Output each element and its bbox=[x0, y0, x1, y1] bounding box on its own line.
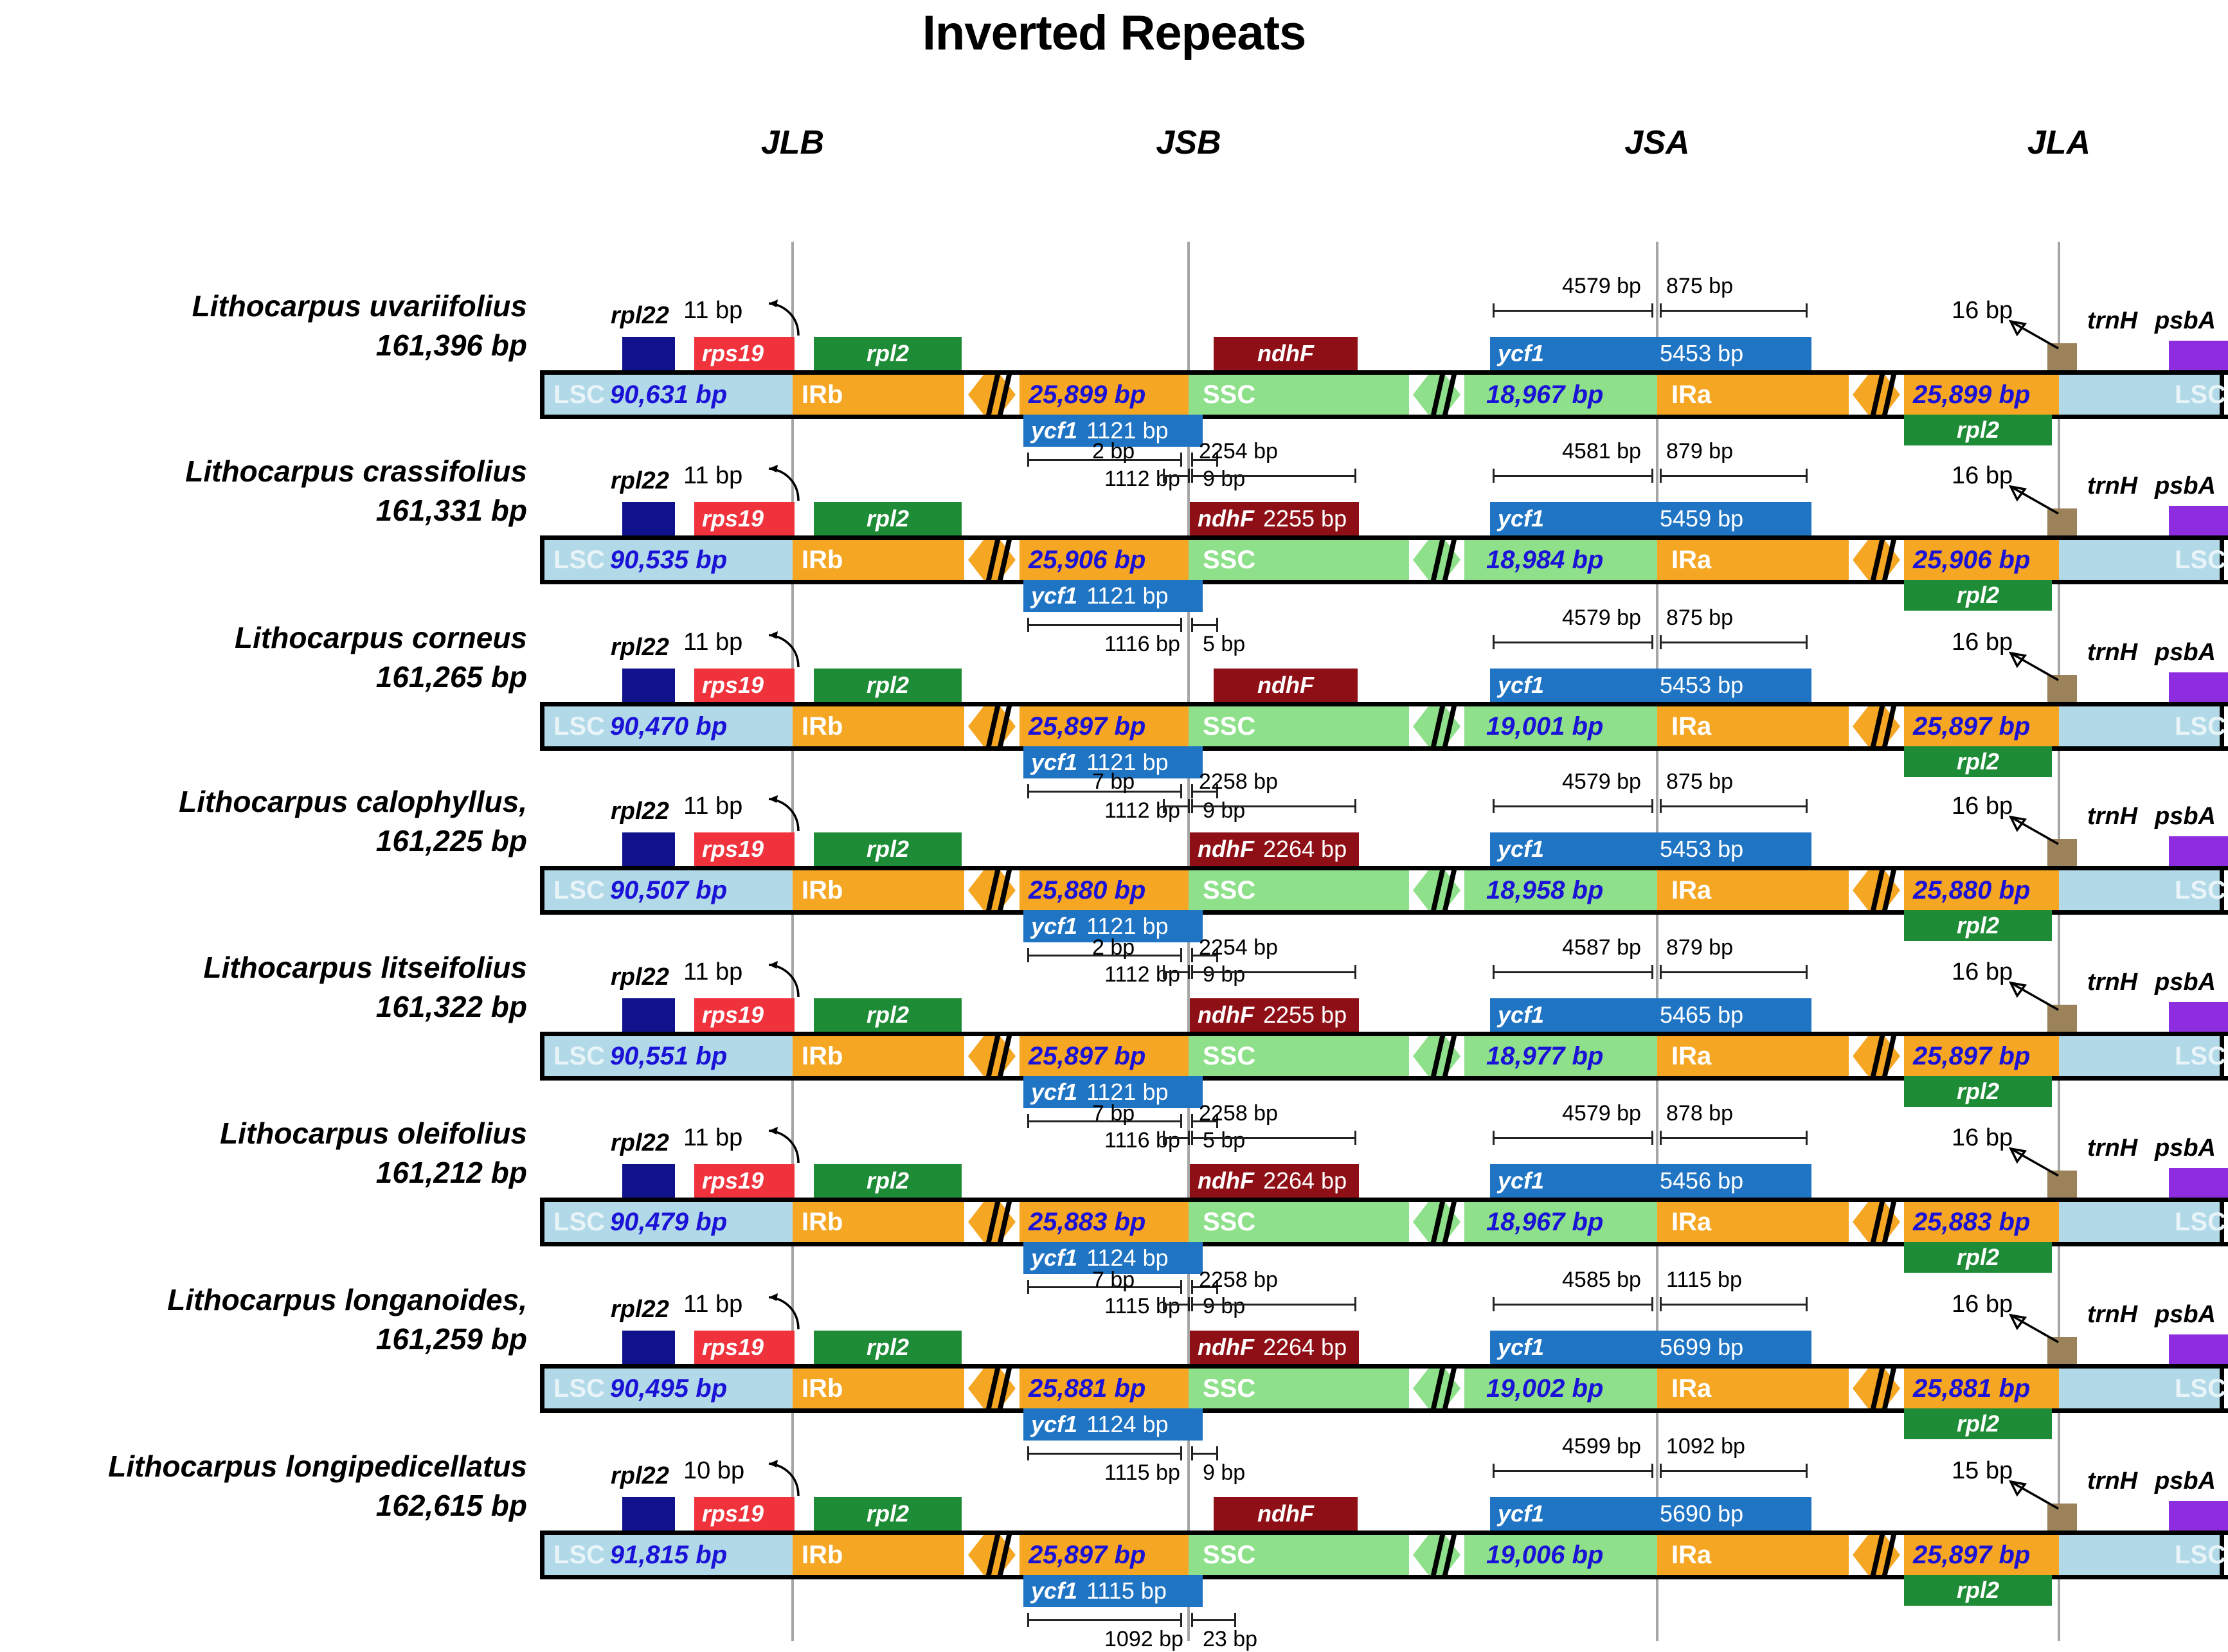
ycf1-jsa-right-bp-label: 875 bp bbox=[1666, 606, 1733, 631]
segment-lsc-left: LSC90,631 bp bbox=[540, 375, 793, 415]
junction-label-jla: JLA bbox=[2027, 123, 2090, 162]
jlb-gap-label: 11 bp bbox=[683, 297, 742, 325]
segment-ira-length: 25,880 bp bbox=[1913, 876, 2030, 905]
segment-lsc-left-name: LSC bbox=[553, 876, 605, 905]
gene-ycf1-jsa-label: ycf1 bbox=[1490, 672, 1544, 699]
segment-ssc-name: SSC bbox=[1203, 876, 1255, 905]
gene-rps19: rps19 bbox=[694, 669, 795, 702]
species-genome-size: 161,265 bp bbox=[39, 658, 527, 697]
ndhf-left-bp-label: 2 bp bbox=[1092, 439, 1135, 464]
gene-rpl2-label: rpl2 bbox=[867, 1001, 909, 1028]
segment-ssc-name: SSC bbox=[1203, 381, 1255, 409]
segment-lsc-left-name: LSC bbox=[553, 381, 605, 409]
gene-rpl2-label: rpl2 bbox=[867, 1500, 909, 1527]
segment-irb-name: IRb bbox=[802, 1042, 843, 1071]
gene-rpl2-ira: rpl2 bbox=[1904, 1076, 2052, 1107]
segment-ssc-name: SSC bbox=[1203, 1208, 1255, 1237]
segment-ira-name: IRa bbox=[1671, 1042, 1711, 1071]
gene-ycf1-jsa-label: ycf1 bbox=[1490, 505, 1544, 532]
jlb-gap-label: 11 bp bbox=[683, 958, 742, 986]
gene-rps19: rps19 bbox=[694, 1497, 795, 1531]
break-marker bbox=[964, 706, 1020, 746]
ndhf-right-bp-label: 2254 bp bbox=[1199, 935, 1278, 960]
species-label-block: Lithocarpus corneus161,265 bp bbox=[39, 618, 527, 696]
gene-ycf1-jsb: ycf11124 bp bbox=[1023, 1408, 1203, 1441]
species-name: Lithocarpus litseifolius bbox=[39, 948, 527, 987]
ycf1-jsa-left-measure bbox=[1493, 303, 1653, 318]
gene-trnh-label: trnH bbox=[2087, 1468, 2137, 1495]
segment-ssc-length: 18,977 bp bbox=[1486, 1042, 1603, 1071]
species-label-block: Lithocarpus longipedicellatus162,615 bp bbox=[39, 1447, 527, 1525]
segment-lsc-right-name: LSC bbox=[2175, 546, 2226, 575]
jlb-gap-arrow bbox=[759, 1460, 804, 1500]
ycf1-jsb-right-bp-label: 9 bp bbox=[1203, 1460, 1245, 1486]
gene-rpl2-label: rpl2 bbox=[867, 1334, 909, 1361]
gene-ndhf-label: ndhF bbox=[1190, 505, 1254, 532]
jlb-gap-arrow bbox=[759, 631, 804, 671]
gene-psba-label: psbA bbox=[2155, 969, 2216, 996]
gene-ycf1-jsa-label: ycf1 bbox=[1490, 836, 1544, 863]
segment-irb-name: IRb bbox=[802, 381, 843, 409]
gene-psba bbox=[2169, 341, 2228, 370]
gene-rpl22 bbox=[622, 1331, 675, 1364]
break-marker bbox=[1849, 1202, 1904, 1242]
segment-ira-name: IRa bbox=[1671, 546, 1711, 575]
segment-lsc-left-name: LSC bbox=[553, 1042, 605, 1071]
gene-psba-label: psbA bbox=[2155, 803, 2216, 830]
gene-ycf1-jsa-length: 5465 bp bbox=[1651, 1001, 1743, 1028]
ycf1-jsa-left-bp-label: 4581 bp bbox=[1562, 439, 1641, 464]
break-marker bbox=[1849, 540, 1904, 580]
break-marker bbox=[964, 1369, 1020, 1408]
jlb-gap-arrow bbox=[759, 961, 804, 1001]
ycf1-jsa-left-measure bbox=[1493, 1131, 1653, 1145]
gene-ycf1-jsa-label: ycf1 bbox=[1490, 1334, 1544, 1361]
gene-ycf1-jsa-label: ycf1 bbox=[1490, 1167, 1544, 1194]
gene-ycf1-jsb-label: ycf1 bbox=[1023, 582, 1077, 609]
gene-psba-label: psbA bbox=[2155, 1135, 2216, 1162]
break-marker bbox=[1849, 1535, 1904, 1575]
gene-rpl22-label: rpl22 bbox=[611, 467, 669, 495]
gene-ndhf-label: ndhF bbox=[1257, 1500, 1314, 1527]
gene-rpl2-irb: rpl2 bbox=[814, 669, 962, 702]
gene-rps19-label: rps19 bbox=[694, 836, 764, 863]
gene-trnh-label: trnH bbox=[2087, 639, 2137, 667]
gene-psba-label: psbA bbox=[2155, 1301, 2216, 1329]
gene-rpl22-label: rpl22 bbox=[611, 1129, 669, 1157]
segment-ira-length: 25,883 bp bbox=[1913, 1208, 2030, 1237]
gene-rpl22 bbox=[622, 998, 675, 1032]
species-label-block: Lithocarpus longanoides,161,259 bp bbox=[39, 1280, 527, 1358]
gene-rpl2-ira-label: rpl2 bbox=[1957, 1078, 1999, 1105]
break-marker bbox=[1409, 870, 1464, 910]
segment-irb-length: 25,880 bp bbox=[1029, 876, 1145, 905]
segment-lsc-right-name: LSC bbox=[2175, 1541, 2226, 1570]
ycf1-jsb-right-measure bbox=[1191, 618, 1218, 632]
break-marker bbox=[1849, 706, 1904, 746]
species-label-block: Lithocarpus uvariifolius161,396 bp bbox=[39, 287, 527, 364]
gene-psba-label: psbA bbox=[2155, 307, 2216, 335]
gene-rpl22 bbox=[622, 832, 675, 866]
segment-lsc-right: LSC bbox=[2059, 1369, 2224, 1408]
gene-rps19-label: rps19 bbox=[694, 1001, 764, 1028]
gene-trnh-label: trnH bbox=[2087, 1135, 2137, 1162]
gene-rpl2-label: rpl2 bbox=[867, 505, 909, 532]
gene-rpl2-ira: rpl2 bbox=[1904, 746, 2052, 777]
segment-lsc-left-length: 90,495 bp bbox=[610, 1374, 727, 1403]
segment-irb-length: 25,883 bp bbox=[1029, 1208, 1145, 1237]
gene-ndhf: ndhF2264 bp bbox=[1190, 1164, 1359, 1198]
segment-lsc-left-length: 90,551 bp bbox=[610, 1042, 727, 1071]
break-marker bbox=[1409, 1535, 1464, 1575]
segment-ira-name: IRa bbox=[1671, 1541, 1711, 1570]
segment-ira-name: IRa bbox=[1671, 381, 1711, 409]
segment-ira-length: 25,897 bp bbox=[1913, 1541, 2030, 1570]
ndhf-right-measure bbox=[1191, 1297, 1356, 1311]
species-label-block: Lithocarpus calophyllus,161,225 bp bbox=[39, 782, 527, 860]
segment-ira-name: IRa bbox=[1671, 876, 1711, 905]
gene-rpl2-irb: rpl2 bbox=[814, 1331, 962, 1364]
gene-rpl2-irb: rpl2 bbox=[814, 337, 962, 370]
break-marker bbox=[1409, 1369, 1464, 1408]
gene-ndhf-label: ndhF bbox=[1190, 1001, 1254, 1028]
gene-ndhf-label: ndhF bbox=[1257, 672, 1314, 699]
gene-psba bbox=[2169, 836, 2228, 866]
ycf1-jsb-left-measure bbox=[1027, 618, 1182, 632]
segment-lsc-left-name: LSC bbox=[553, 712, 605, 741]
jlb-gap-label: 11 bp bbox=[683, 1291, 742, 1318]
segment-ira-length: 25,906 bp bbox=[1913, 546, 2030, 575]
segment-ssc-length: 18,984 bp bbox=[1486, 546, 1603, 575]
gene-ndhf-label: ndhF bbox=[1190, 836, 1254, 863]
gene-ycf1-jsa-label: ycf1 bbox=[1490, 1500, 1544, 1527]
gene-ndhf: ndhF bbox=[1214, 337, 1358, 370]
gene-rpl2-ira-label: rpl2 bbox=[1957, 1577, 1999, 1604]
segment-irb-length: 25,899 bp bbox=[1029, 381, 1145, 409]
segment-irb-length: 25,897 bp bbox=[1029, 1042, 1145, 1071]
gene-rpl2-irb: rpl2 bbox=[814, 998, 962, 1032]
ndhf-left-measure bbox=[1163, 965, 1190, 979]
gene-rpl2-irb: rpl2 bbox=[814, 1497, 962, 1531]
junction-line-jlb bbox=[791, 242, 794, 1641]
gene-rpl2-ira: rpl2 bbox=[1904, 580, 2052, 611]
species-name: Lithocarpus longipedicellatus bbox=[39, 1447, 527, 1486]
gene-ycf1-jsa-label: ycf1 bbox=[1490, 1001, 1544, 1028]
gene-ycf1-jsa: ycf15465 bp bbox=[1490, 998, 1811, 1032]
junction-label-jsb: JSB bbox=[1156, 123, 1221, 162]
species-name: Lithocarpus uvariifolius bbox=[39, 287, 527, 326]
break-marker bbox=[1849, 1036, 1904, 1076]
segment-lsc-right: LSC bbox=[2059, 540, 2224, 580]
segment-irb-name: IRb bbox=[802, 876, 843, 905]
species-label-block: Lithocarpus crassifolius161,331 bp bbox=[39, 452, 527, 530]
segment-irb-length: 25,881 bp bbox=[1029, 1374, 1145, 1403]
jla-gap-arrow bbox=[2003, 1142, 2067, 1178]
gene-ycf1-jsa-label: ycf1 bbox=[1490, 340, 1544, 367]
segment-lsc-right: LSC bbox=[2059, 1535, 2224, 1575]
junction-label-jsa: JSA bbox=[1624, 123, 1689, 162]
gene-rpl22-label: rpl22 bbox=[611, 964, 669, 991]
segment-irb-length: 25,906 bp bbox=[1029, 546, 1145, 575]
jlb-gap-arrow bbox=[759, 300, 804, 339]
gene-rpl2-ira-label: rpl2 bbox=[1957, 748, 1999, 775]
genome-bar: LSC90,479 bpIRb25,883 bpSSC18,967 bpIRa2… bbox=[540, 1198, 2228, 1246]
segment-lsc-right-name: LSC bbox=[2175, 712, 2226, 741]
gene-trnh-label: trnH bbox=[2087, 472, 2137, 500]
ndhf-right-measure bbox=[1191, 469, 1356, 483]
gene-ycf1-jsb-label: ycf1 bbox=[1023, 913, 1077, 940]
segment-irb-name: IRb bbox=[802, 1374, 843, 1403]
break-marker bbox=[964, 1202, 1020, 1242]
gene-ndhf: ndhF bbox=[1214, 1497, 1358, 1531]
ndhf-left-bp-label: 2 bp bbox=[1092, 935, 1135, 960]
ndhf-left-measure bbox=[1163, 1297, 1190, 1311]
ycf1-jsa-left-measure bbox=[1493, 965, 1653, 979]
segment-lsc-right-name: LSC bbox=[2175, 1374, 2226, 1403]
segment-irb-length: 25,897 bp bbox=[1029, 1541, 1145, 1570]
ycf1-jsa-left-bp-label: 4579 bp bbox=[1562, 1101, 1641, 1126]
segment-lsc-left-length: 90,507 bp bbox=[610, 876, 727, 905]
segment-irb-name: IRb bbox=[802, 546, 843, 575]
genome-bar: LSC91,815 bpIRb25,897 bpSSC19,006 bpIRa2… bbox=[540, 1531, 2228, 1579]
segment-ssc-name: SSC bbox=[1203, 546, 1255, 575]
gene-rps19-label: rps19 bbox=[694, 505, 764, 532]
gene-ycf1-jsa-length: 5453 bp bbox=[1651, 836, 1743, 863]
gene-rpl2-ira: rpl2 bbox=[1904, 910, 2052, 941]
species-name: Lithocarpus longanoides, bbox=[39, 1280, 527, 1320]
gene-rpl2-ira-label: rpl2 bbox=[1957, 582, 1999, 609]
gene-rpl22 bbox=[622, 1164, 675, 1198]
ndhf-left-measure bbox=[1163, 1131, 1190, 1145]
gene-rpl2-label: rpl2 bbox=[867, 836, 909, 863]
segment-lsc-left-length: 90,631 bp bbox=[610, 381, 727, 409]
gene-psba-label: psbA bbox=[2155, 639, 2216, 667]
ycf1-jsa-right-bp-label: 879 bp bbox=[1666, 935, 1733, 960]
segment-lsc-left: LSC91,815 bp bbox=[540, 1535, 793, 1575]
segment-lsc-left-name: LSC bbox=[553, 546, 605, 575]
gene-ycf1-jsa: ycf15453 bp bbox=[1490, 337, 1811, 370]
gene-rpl22-label: rpl22 bbox=[611, 302, 669, 330]
gene-ycf1-jsa: ycf15699 bp bbox=[1490, 1331, 1811, 1364]
gene-rpl22 bbox=[622, 337, 675, 370]
segment-ssc-length: 18,967 bp bbox=[1486, 1208, 1603, 1237]
species-genome-size: 161,259 bp bbox=[39, 1320, 527, 1359]
ycf1-jsb-right-measure bbox=[1191, 1446, 1218, 1460]
junction-line-jsa bbox=[1656, 242, 1658, 1641]
ndhf-left-measure bbox=[1163, 799, 1190, 813]
gene-ndhf-length: 2264 bp bbox=[1254, 836, 1347, 863]
jla-gap-arrow bbox=[2003, 976, 2067, 1012]
segment-ssc-length: 19,001 bp bbox=[1486, 712, 1603, 741]
segment-ira-length: 25,897 bp bbox=[1913, 1042, 2030, 1071]
break-marker bbox=[1849, 870, 1904, 910]
segment-lsc-left-name: LSC bbox=[553, 1541, 605, 1570]
gene-ycf1-jsb-label: ycf1 bbox=[1023, 749, 1077, 776]
jlb-gap-arrow bbox=[759, 1127, 804, 1167]
gene-ycf1-jsa: ycf15690 bp bbox=[1490, 1497, 1811, 1531]
segment-ira-length: 25,897 bp bbox=[1913, 712, 2030, 741]
break-marker bbox=[964, 1535, 1020, 1575]
species-name: Lithocarpus crassifolius bbox=[39, 452, 527, 491]
gene-ndhf: ndhF2264 bp bbox=[1190, 1331, 1359, 1364]
gene-psba bbox=[2169, 506, 2228, 535]
gene-rps19: rps19 bbox=[694, 998, 795, 1032]
segment-ssc-length: 19,006 bp bbox=[1486, 1541, 1603, 1570]
species-name: Lithocarpus oleifolius bbox=[39, 1114, 527, 1153]
segment-lsc-left: LSC90,507 bp bbox=[540, 870, 793, 910]
gene-ndhf: ndhF2255 bp bbox=[1190, 502, 1359, 535]
jlb-gap-label: 11 bp bbox=[683, 629, 742, 656]
genome-bar: LSC90,551 bpIRb25,897 bpSSC18,977 bpIRa2… bbox=[540, 1032, 2228, 1081]
ycf1-jsa-right-measure bbox=[1660, 965, 1808, 979]
gene-ycf1-jsb-length: 1115 bp bbox=[1077, 1577, 1167, 1604]
gene-psba-label: psbA bbox=[2155, 1468, 2216, 1495]
gene-trnh-label: trnH bbox=[2087, 307, 2137, 335]
break-marker bbox=[1409, 375, 1464, 415]
gene-psba bbox=[2169, 672, 2228, 702]
ndhf-left-measure bbox=[1163, 469, 1190, 483]
species-genome-size: 161,396 bp bbox=[39, 326, 527, 365]
gene-rpl2-ira-label: rpl2 bbox=[1957, 1244, 1999, 1271]
gene-ycf1-jsb-label: ycf1 bbox=[1023, 1411, 1077, 1438]
segment-lsc-left-length: 90,470 bp bbox=[610, 712, 727, 741]
ycf1-jsa-left-bp-label: 4579 bp bbox=[1562, 769, 1641, 795]
segment-lsc-right: LSC bbox=[2059, 375, 2224, 415]
segment-lsc-right: LSC bbox=[2059, 1202, 2224, 1242]
gene-rpl2-irb: rpl2 bbox=[814, 502, 962, 535]
gene-rpl2-label: rpl2 bbox=[867, 340, 909, 367]
ycf1-jsb-left-measure bbox=[1027, 1446, 1182, 1460]
break-marker bbox=[1409, 706, 1464, 746]
species-genome-size: 161,212 bp bbox=[39, 1153, 527, 1192]
gene-ndhf-label: ndhF bbox=[1190, 1167, 1254, 1194]
ycf1-jsa-right-measure bbox=[1660, 469, 1808, 483]
junction-label-jlb: JLB bbox=[761, 123, 824, 162]
segment-lsc-right: LSC bbox=[2059, 1036, 2224, 1076]
genome-bar: LSC90,507 bpIRb25,880 bpSSC18,958 bpIRa2… bbox=[540, 866, 2228, 915]
segment-lsc-right: LSC bbox=[2059, 706, 2224, 746]
ycf1-jsa-left-measure bbox=[1493, 1464, 1653, 1478]
gene-psba bbox=[2169, 1501, 2228, 1531]
genome-bar: LSC90,535 bpIRb25,906 bpSSC18,984 bpIRa2… bbox=[540, 535, 2228, 584]
gene-ycf1-jsa-length: 5699 bp bbox=[1651, 1334, 1743, 1361]
ycf1-jsa-left-measure bbox=[1493, 635, 1653, 649]
gene-ycf1-jsb-length: 1124 bp bbox=[1077, 1411, 1168, 1438]
jlb-gap-arrow bbox=[759, 795, 804, 835]
ycf1-jsa-right-measure bbox=[1660, 635, 1808, 649]
segment-lsc-left: LSC90,479 bp bbox=[540, 1202, 793, 1242]
gene-trnh-label: trnH bbox=[2087, 969, 2137, 996]
break-marker bbox=[964, 870, 1020, 910]
gene-ycf1-jsb-label: ycf1 bbox=[1023, 1244, 1077, 1271]
ycf1-jsa-right-bp-label: 875 bp bbox=[1666, 769, 1733, 795]
gene-rpl2-label: rpl2 bbox=[867, 672, 909, 699]
segment-ssc-name: SSC bbox=[1203, 1374, 1255, 1403]
gene-rpl2-ira: rpl2 bbox=[1904, 1408, 2052, 1439]
ycf1-jsa-right-measure bbox=[1660, 799, 1808, 813]
segment-ira-name: IRa bbox=[1671, 1208, 1711, 1237]
gene-ndhf: ndhF2255 bp bbox=[1190, 998, 1359, 1032]
segment-ira-name: IRa bbox=[1671, 712, 1711, 741]
break-marker bbox=[1409, 1202, 1464, 1242]
segment-lsc-left: LSC90,470 bp bbox=[540, 706, 793, 746]
gene-rps19: rps19 bbox=[694, 832, 795, 866]
gene-ycf1-jsa: ycf15459 bp bbox=[1490, 502, 1811, 535]
gene-psba-label: psbA bbox=[2155, 472, 2216, 500]
genome-bar: LSC90,631 bpIRb25,899 bpSSC18,967 bpIRa2… bbox=[540, 370, 2228, 419]
gene-rps19: rps19 bbox=[694, 337, 795, 370]
segment-lsc-left-name: LSC bbox=[553, 1374, 605, 1403]
ycf1-jsb-left-bp-label: 1116 bp bbox=[1104, 632, 1180, 657]
gene-ycf1-jsa: ycf15456 bp bbox=[1490, 1164, 1811, 1198]
jla-gap-arrow bbox=[2003, 1475, 2067, 1511]
segment-irb-length: 25,897 bp bbox=[1029, 712, 1145, 741]
gene-ycf1-jsa-length: 5453 bp bbox=[1651, 672, 1743, 699]
jlb-gap-label: 11 bp bbox=[683, 1124, 742, 1152]
break-marker bbox=[1409, 540, 1464, 580]
ndhf-left-bp-label: 7 bp bbox=[1092, 769, 1135, 795]
gene-trnh-label: trnH bbox=[2087, 1301, 2137, 1329]
ycf1-jsa-left-measure bbox=[1493, 469, 1653, 483]
ycf1-jsb-left-bp-label: 1115 bp bbox=[1104, 1460, 1180, 1486]
ndhf-right-bp-label: 2258 bp bbox=[1199, 1268, 1278, 1293]
gene-ndhf-length: 2255 bp bbox=[1254, 1001, 1347, 1028]
ycf1-jsa-left-measure bbox=[1493, 799, 1653, 813]
ycf1-jsb-right-bp-label: 23 bp bbox=[1203, 1627, 1257, 1652]
jla-gap-arrow bbox=[2003, 315, 2067, 351]
segment-ssc-name: SSC bbox=[1203, 1541, 1255, 1570]
ycf1-jsa-left-bp-label: 4585 bp bbox=[1562, 1268, 1641, 1293]
gene-ycf1-jsb: ycf11115 bp bbox=[1023, 1575, 1203, 1607]
segment-lsc-right-name: LSC bbox=[2175, 876, 2226, 905]
gene-rps19-label: rps19 bbox=[694, 1500, 764, 1527]
species-genome-size: 162,615 bp bbox=[39, 1486, 527, 1525]
species-name: Lithocarpus corneus bbox=[39, 618, 527, 658]
gene-rpl22-label: rpl22 bbox=[611, 634, 669, 661]
ycf1-jsa-left-bp-label: 4579 bp bbox=[1562, 274, 1641, 299]
ycf1-jsa-left-measure bbox=[1493, 1297, 1653, 1311]
gene-rpl2-ira-label: rpl2 bbox=[1957, 912, 1999, 939]
segment-ssc-name: SSC bbox=[1203, 712, 1255, 741]
segment-ssc-length: 19,002 bp bbox=[1486, 1374, 1603, 1403]
gene-rpl2-irb: rpl2 bbox=[814, 1164, 962, 1198]
gene-rpl2-ira-label: rpl2 bbox=[1957, 1410, 1999, 1437]
species-genome-size: 161,322 bp bbox=[39, 987, 527, 1027]
gene-ycf1-jsa-length: 5690 bp bbox=[1651, 1500, 1743, 1527]
ycf1-jsa-right-bp-label: 1115 bp bbox=[1666, 1268, 1742, 1293]
gene-ndhf: ndhF2264 bp bbox=[1190, 832, 1359, 866]
gene-rps19-label: rps19 bbox=[694, 672, 764, 699]
gene-psba bbox=[2169, 1168, 2228, 1198]
gene-ndhf-label: ndhF bbox=[1190, 1334, 1254, 1361]
ycf1-jsa-left-bp-label: 4587 bp bbox=[1562, 935, 1641, 960]
segment-ssc-name: SSC bbox=[1203, 1042, 1255, 1071]
ycf1-jsb-left-bp-label: 1092 bp bbox=[1104, 1627, 1183, 1652]
species-genome-size: 161,331 bp bbox=[39, 491, 527, 530]
gene-trnh-label: trnH bbox=[2087, 803, 2137, 830]
gene-ycf1-jsa: ycf15453 bp bbox=[1490, 832, 1811, 866]
ndhf-right-measure bbox=[1191, 965, 1356, 979]
ndhf-right-bp-label: 2258 bp bbox=[1199, 1101, 1278, 1126]
gene-rps19-label: rps19 bbox=[694, 1167, 764, 1194]
ndhf-right-bp-label: 2258 bp bbox=[1199, 769, 1278, 795]
ycf1-jsb-right-bp-label: 5 bp bbox=[1203, 632, 1245, 657]
gene-rpl22 bbox=[622, 1497, 675, 1531]
ycf1-jsb-right-measure bbox=[1191, 1613, 1236, 1627]
ycf1-jsa-right-bp-label: 879 bp bbox=[1666, 439, 1733, 464]
gene-ycf1-jsa-length: 5453 bp bbox=[1651, 340, 1743, 367]
gene-rpl2-ira-label: rpl2 bbox=[1957, 417, 1999, 444]
